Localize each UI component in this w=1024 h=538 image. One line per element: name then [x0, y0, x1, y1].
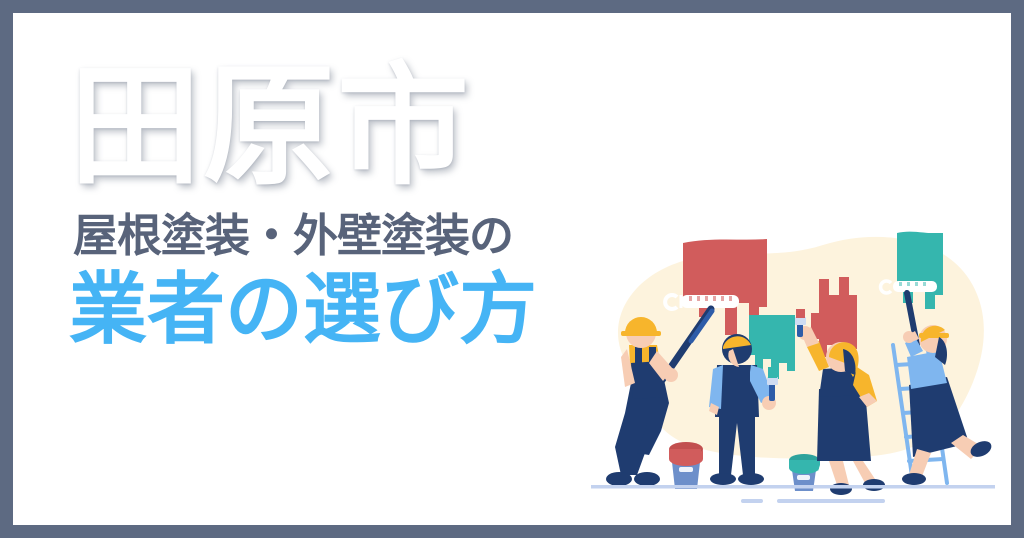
heading-block: 田原市 屋根塗装・外壁塗装の 業者の選び方	[55, 61, 615, 348]
painters-illustration	[591, 217, 1001, 517]
page-subtitle: 屋根塗装・外壁塗装の	[55, 213, 615, 258]
ground-line	[591, 485, 995, 503]
banner-frame: 田原市 屋根塗装・外壁塗装の 業者の選び方	[0, 0, 1024, 538]
page-title-accent: 業者の選び方	[55, 270, 615, 348]
banner-card: 田原市 屋根塗装・外壁塗装の 業者の選び方	[13, 13, 1011, 525]
page-title-city: 田原市	[55, 61, 615, 193]
red-paint-bucket	[669, 442, 703, 489]
